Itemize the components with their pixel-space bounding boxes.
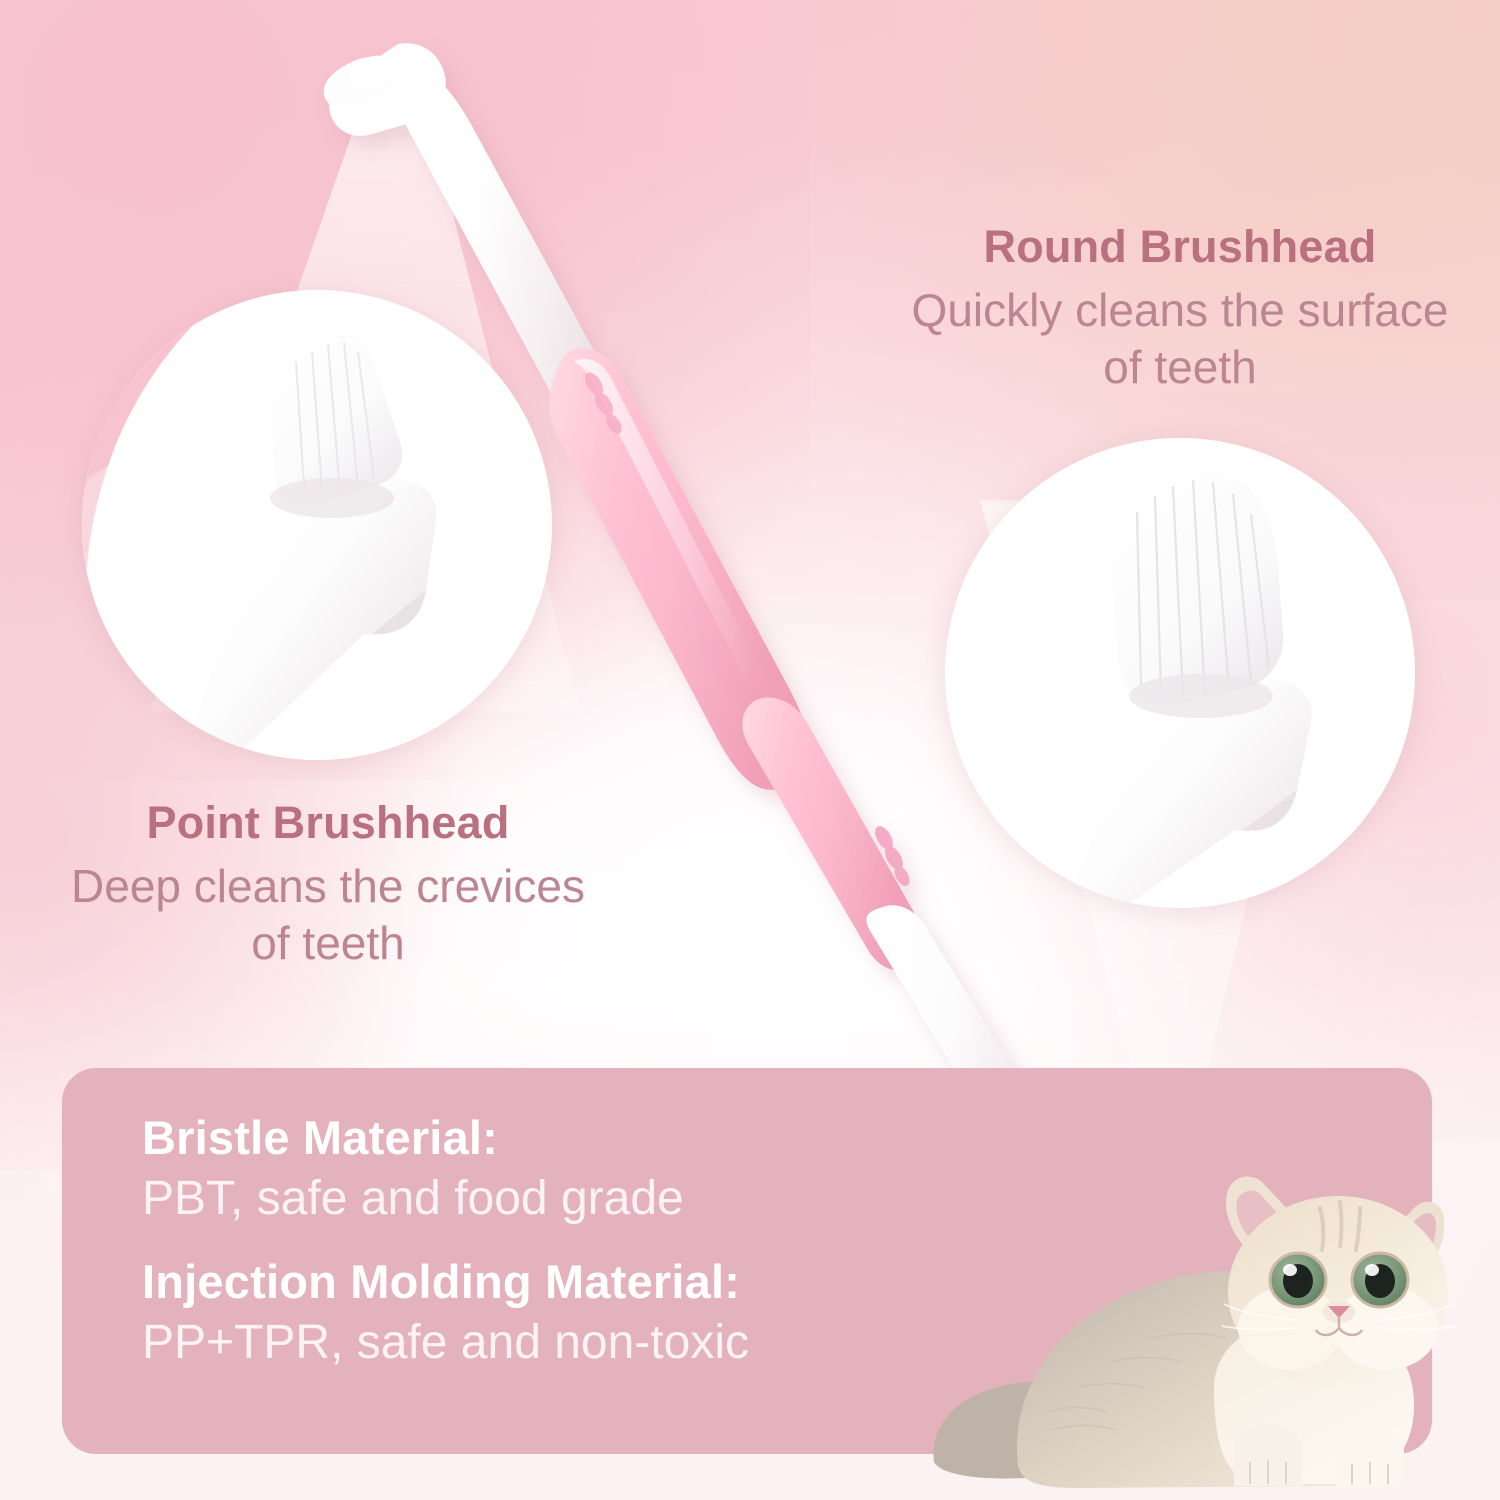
callout-point-body-line2: of teeth [22, 915, 634, 971]
callout-round-body-line1: Quickly cleans the surface [880, 282, 1480, 338]
injection-material-label: Injection Molding Material: [142, 1254, 1042, 1310]
callout-point-title: Point Brushhead [22, 798, 634, 848]
callout-point-body-line1: Deep cleans the crevices [22, 858, 634, 914]
callout-point-body: Deep cleans the crevices of teeth [22, 858, 634, 970]
callout-round-body-line2: of teeth [880, 339, 1480, 395]
callout-round-title: Round Brushhead [880, 222, 1480, 272]
callout-point-brushhead: Point Brushhead Deep cleans the crevices… [22, 798, 634, 971]
injection-material-value: PP+TPR, safe and non-toxic [142, 1314, 1042, 1372]
zoom-circle-point-brushhead [82, 290, 552, 760]
callout-round-body: Quickly cleans the surface of teeth [880, 282, 1480, 394]
bristle-material-label: Bristle Material: [142, 1110, 1042, 1166]
cat-photo [928, 1162, 1468, 1500]
product-infographic: Round Brushhead Quickly cleans the surfa… [0, 0, 1500, 1500]
callout-round-brushhead: Round Brushhead Quickly cleans the surfa… [880, 222, 1480, 395]
material-item-bristle: Bristle Material: PBT, safe and food gra… [142, 1110, 1042, 1228]
zoom-circle-round-brushhead [945, 438, 1415, 908]
material-banner-text: Bristle Material: PBT, safe and food gra… [142, 1110, 1042, 1372]
bristle-material-value: PBT, safe and food grade [142, 1170, 1042, 1228]
material-item-injection: Injection Molding Material: PP+TPR, safe… [142, 1254, 1042, 1372]
